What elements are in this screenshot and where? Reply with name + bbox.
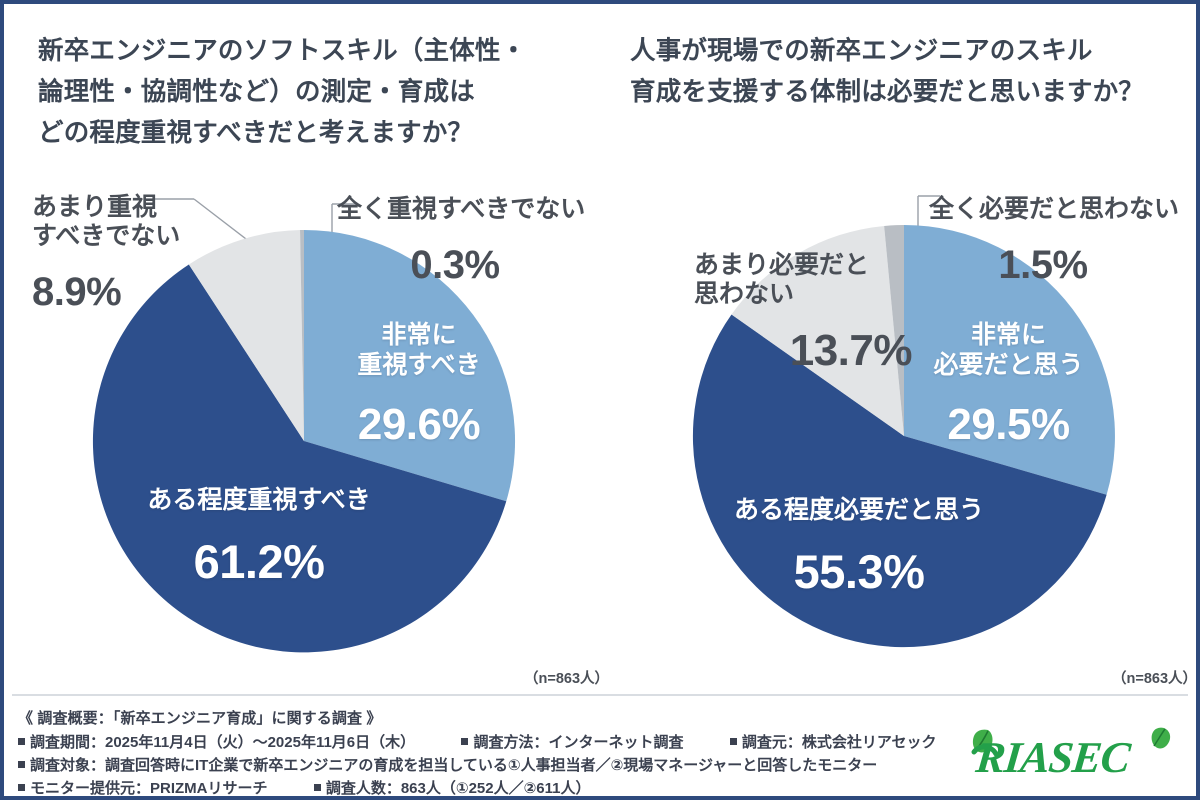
footer-source: 調査元：株式会社リアセック	[742, 734, 937, 751]
footer-divider	[12, 694, 1188, 696]
pie-label-amari-left: あまり重視 すべきでない 8.9%	[32, 174, 262, 335]
pie-label-amari-left-pct: 8.9%	[32, 269, 262, 316]
bullet-icon	[461, 738, 468, 745]
bullet-icon	[18, 761, 25, 768]
pie-label-aru-right-pct: 55.3%	[704, 544, 1014, 600]
pie-label-aru-left-text: ある程度重視すべき	[104, 485, 414, 515]
pie-label-aru-right: ある程度必要だと思う 55.3%	[704, 476, 1014, 620]
pie-label-hijou-right-text: 非常に 必要だと思う	[901, 320, 1116, 380]
pie-label-amari-right-text: あまり必要だと 思わない	[694, 251, 934, 310]
pie-label-mattaku-left: 全く重視すべきでない 0.3%	[337, 176, 617, 308]
survey-overview-footer: 《 調査概要：「新卒エンジニア育成」に関する調査 》 調査期間：2025年11月…	[12, 704, 952, 796]
footer-row-2: 調査対象：調査回答時にIT企業で新卒エンジニアの育成を担当している①人事担当者／…	[18, 754, 952, 775]
bullet-icon	[730, 738, 737, 745]
footer-row-3: モニター提供元：PRIZMAリサーチ 調査人数：863人（①252人／②611人…	[18, 777, 952, 796]
pie-label-mattaku-right-text: 全く必要だと思わない	[929, 195, 1196, 225]
bullet-icon	[314, 784, 321, 791]
pie-label-mattaku-right-pct: 1.5%	[929, 242, 1157, 289]
pie-label-hijou-left: 非常に 重視すべき 29.6%	[304, 301, 534, 471]
pie-label-hijou-left-pct: 29.6%	[304, 399, 534, 452]
pie-label-hijou-right: 非常に 必要だと思う 29.5%	[901, 301, 1116, 471]
sample-size-right: （n=863人）	[1112, 667, 1196, 688]
footer-monitor-provider: モニター提供元：PRIZMAリサーチ	[30, 780, 268, 796]
footer-period: 調査期間：2025年11月4日（火）〜2025年11月6日（木）	[30, 734, 415, 751]
riasec-wordmark: RIASEC	[973, 733, 1134, 782]
footer-method: 調査方法：インターネット調査	[473, 734, 683, 751]
footer-row-1: 調査期間：2025年11月4日（火）〜2025年11月6日（木） 調査方法：イン…	[18, 731, 952, 752]
footer-target: 調査対象：調査回答時にIT企業で新卒エンジニアの育成を担当している①人事担当者／…	[30, 757, 877, 774]
infographic-page: 新卒エンジニアのソフトスキル（主体性・ 論理性・協調性など）の測定・育成は どの…	[4, 4, 1196, 796]
bullet-icon	[18, 738, 25, 745]
pie-label-amari-right-pct: 13.7%	[694, 325, 912, 377]
pie-label-amari-right: あまり必要だと 思わない 13.7%	[694, 232, 934, 396]
pie-label-aru-right-text: ある程度必要だと思う	[704, 495, 1014, 525]
chart-title-right: 人事が現場での新卒エンジニアのスキル 育成を支援する体制は必要だと思いますか？	[630, 31, 1190, 113]
pie-label-hijou-right-pct: 29.5%	[901, 399, 1116, 452]
pie-label-aru-left: ある程度重視すべき 61.2%	[104, 466, 414, 610]
pie-label-mattaku-left-text: 全く重視すべきでない	[337, 195, 617, 225]
pie-label-amari-left-text: あまり重視 すべきでない	[32, 193, 262, 252]
pie-label-aru-left-pct: 61.2%	[104, 534, 414, 590]
pie-label-hijou-left-text: 非常に 重視すべき	[304, 320, 534, 380]
riasec-logo-svg: RIASEC	[966, 722, 1188, 784]
chart-title-left: 新卒エンジニアのソフトスキル（主体性・ 論理性・協調性など）の測定・育成は どの…	[38, 31, 598, 154]
bullet-icon	[18, 784, 25, 791]
pie-label-mattaku-right: 全く必要だと思わない 1.5%	[929, 176, 1196, 308]
pie-label-mattaku-left-pct: 0.3%	[337, 242, 573, 289]
footer-respondent-count: 調査人数：863人（①252人／②611人）	[326, 780, 591, 796]
sample-size-left: （n=863人）	[524, 667, 609, 688]
riasec-logo: RIASEC	[966, 722, 1188, 784]
footer-heading: 《 調査概要：「新卒エンジニア育成」に関する調査 》	[18, 707, 952, 728]
